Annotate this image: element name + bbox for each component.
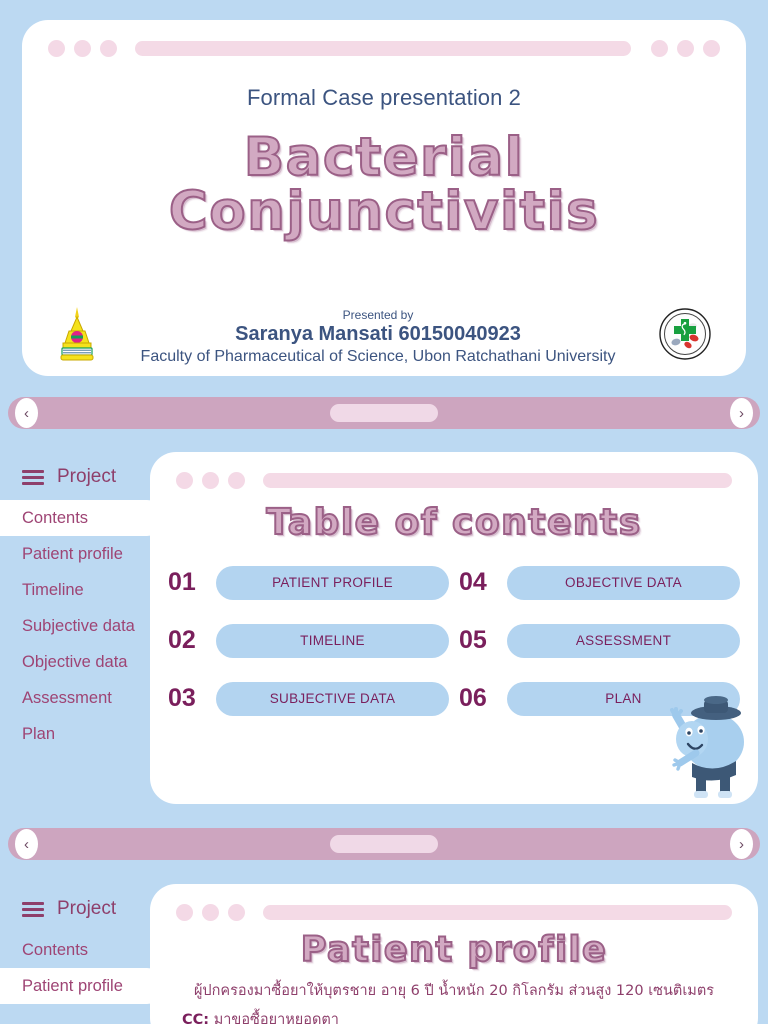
window-dot-icon — [176, 904, 193, 921]
table-of-contents-grid: 01 PATIENT PROFILE 04 OBJECTIVE DATA 02 … — [168, 566, 740, 716]
url-bar-placeholder — [263, 473, 732, 488]
sidebar-item-label: Plan — [22, 725, 55, 744]
sidebar-item-label: Contents — [22, 941, 88, 960]
window-dot-icon — [677, 40, 694, 57]
chevron-right-icon[interactable]: › — [730, 829, 753, 859]
scroll-thumb[interactable] — [330, 835, 438, 853]
presenter-faculty: Faculty of Pharmaceutical of Science, Ub… — [98, 348, 658, 366]
url-bar-placeholder — [135, 41, 631, 56]
toc-entry[interactable]: 03 SUBJECTIVE DATA — [168, 682, 449, 716]
toc-label-pill[interactable]: TIMELINE — [216, 624, 449, 658]
toc-number: 06 — [459, 684, 493, 713]
slide-chrome-bar — [22, 20, 746, 57]
toc-number: 05 — [459, 626, 493, 655]
presenter-block: Presented by Saranya Mansati 60150040923… — [98, 308, 658, 366]
sidebar-item-label: Assessment — [22, 689, 112, 708]
toc-entry[interactable]: 01 PATIENT PROFILE — [168, 566, 449, 600]
waving-character-illustration-icon — [658, 687, 754, 804]
window-dot-icon — [48, 40, 65, 57]
toc-number: 03 — [168, 684, 202, 713]
sidebar-title: Project — [57, 466, 116, 488]
window-dot-icon — [202, 472, 219, 489]
window-dot-icon — [100, 40, 117, 57]
toc-entry[interactable]: 04 OBJECTIVE DATA — [459, 566, 740, 600]
sidebar-item-contents[interactable]: Contents — [0, 500, 165, 536]
chevron-right-icon[interactable]: › — [730, 398, 753, 428]
toc-label-pill[interactable]: SUBJECTIVE DATA — [216, 682, 449, 716]
slide-heading: Table of contents — [150, 505, 758, 542]
window-dot-icon — [202, 904, 219, 921]
slide-chrome-bar — [150, 452, 758, 489]
sidebar-title: Project — [57, 898, 116, 920]
presentation-title: Bacterial Conjunctivitis — [52, 131, 716, 239]
slide-heading: Patient profile — [150, 933, 758, 969]
toc-label-pill[interactable]: ASSESSMENT — [507, 624, 740, 658]
slide-title-footer: Presented by Saranya Mansati 60150040923… — [22, 305, 746, 368]
slide-title[interactable]: Formal Case presentation 2 Bacterial Con… — [22, 20, 746, 376]
toc-label-pill[interactable]: OBJECTIVE DATA — [507, 566, 740, 600]
toc-number: 01 — [168, 568, 202, 597]
chevron-left-icon[interactable]: ‹ — [15, 829, 38, 859]
slide-scrollbar-2[interactable]: ‹ › — [8, 828, 760, 860]
sidebar-item-label: Patient profile — [22, 545, 123, 564]
window-dot-icon — [228, 904, 245, 921]
toc-number: 04 — [459, 568, 493, 597]
slide-scrollbar-1[interactable]: ‹ › — [8, 397, 760, 429]
url-bar-placeholder — [263, 905, 732, 920]
window-dot-icon — [703, 40, 720, 57]
hamburger-menu-icon[interactable] — [22, 470, 44, 485]
sidebar-item-label: Subjective data — [22, 617, 135, 636]
toc-entry[interactable]: 05 ASSESSMENT — [459, 624, 740, 658]
slide-title-body: Formal Case presentation 2 Bacterial Con… — [22, 85, 746, 239]
presentation-viewer: Formal Case presentation 2 Bacterial Con… — [0, 0, 768, 1024]
faculty-of-pharmaceutical-sciences-emblem-icon — [658, 307, 712, 366]
toc-label-pill[interactable]: PATIENT PROFILE — [216, 566, 449, 600]
chevron-left-icon[interactable]: ‹ — [15, 398, 38, 428]
sidebar-item-label: Objective data — [22, 653, 127, 672]
presentation-subtitle: Formal Case presentation 2 — [52, 85, 716, 111]
window-dot-icon — [228, 472, 245, 489]
chrome-right-dots — [651, 40, 720, 57]
presentation-title-line-2: Conjunctivitis — [52, 185, 716, 239]
window-dot-icon — [74, 40, 91, 57]
toc-number: 02 — [168, 626, 202, 655]
slide-table-of-contents[interactable]: Table of contents 01 PATIENT PROFILE 04 … — [150, 452, 758, 804]
presentation-title-line-1: Bacterial — [52, 131, 716, 185]
window-dot-icon — [651, 40, 668, 57]
chief-complaint-line: CC: มาขอซื้อยาหยอดตา — [150, 1008, 758, 1024]
patient-summary-line: ผู้ปกครองมาซื้อยาให้บุตรชาย อายุ 6 ปี น้… — [150, 979, 758, 1002]
chief-complaint-value: มาขอซื้อยาหยอดตา — [214, 1012, 339, 1024]
sidebar-item-label: Patient profile — [22, 977, 123, 996]
window-dot-icon — [176, 472, 193, 489]
ubon-ratchathani-university-seal-icon — [56, 305, 98, 368]
presenter-name: Saranya Mansati 60150040923 — [98, 323, 658, 346]
toc-entry[interactable]: 02 TIMELINE — [168, 624, 449, 658]
scroll-thumb[interactable] — [330, 404, 438, 422]
slide-patient-profile[interactable]: Patient profile ผู้ปกครองมาซื้อยาให้บุตร… — [150, 884, 758, 1024]
chief-complaint-label: CC: — [182, 1012, 209, 1024]
sidebar-item-label: Contents — [22, 509, 88, 528]
presented-by-label: Presented by — [98, 308, 658, 322]
sidebar-item-patient-profile[interactable]: Patient profile — [0, 968, 165, 1004]
hamburger-menu-icon[interactable] — [22, 902, 44, 917]
sidebar-item-label: Timeline — [22, 581, 84, 600]
slide-chrome-bar — [150, 884, 758, 921]
